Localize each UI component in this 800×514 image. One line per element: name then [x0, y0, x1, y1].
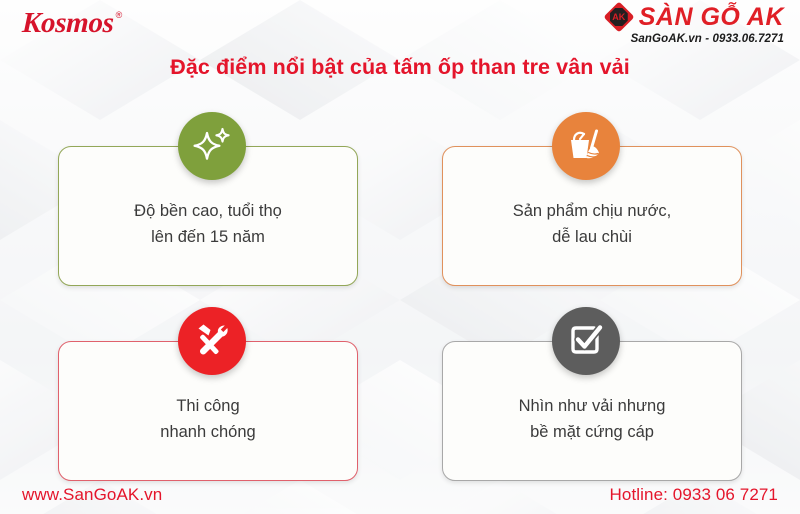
footer-website[interactable]: www.SanGoAK.vn: [22, 485, 162, 505]
ak-octagon-shape: AK: [610, 8, 628, 26]
sangoak-subtitle: SanGoAK.vn - 0933.06.7271: [574, 33, 784, 45]
kosmos-logo[interactable]: Kosmos ®: [22, 9, 122, 38]
feature-card-text: Độ bền cao, tuổi thọ lên đến 15 năm: [59, 199, 357, 250]
page-title: Đặc điểm nổi bật của tấm ốp than tre vân…: [0, 55, 800, 80]
feature-line-2: nhanh chóng: [59, 420, 357, 446]
hammer-wrench-icon: [191, 320, 233, 362]
feature-line-1: Sản phẩm chịu nước,: [513, 202, 672, 220]
ak-shield-icon: AK: [606, 4, 632, 30]
sparkle-icon: [190, 124, 234, 168]
feature-line-1: Độ bền cao, tuổi thọ: [134, 202, 282, 220]
sangoak-title: SÀN GỖ AK: [639, 5, 784, 30]
checkbox-check-icon-badge: [552, 307, 620, 375]
bucket-mop-icon-badge: [552, 112, 620, 180]
footer-hotline[interactable]: Hotline: 0933 06 7271: [610, 485, 778, 505]
feature-card-text: Thi công nhanh chóng: [59, 394, 357, 445]
infographic-root: Kosmos ® AK SÀN GỖ AK SanGoAK.vn - 0933.…: [0, 0, 800, 514]
kosmos-wordmark: Kosmos: [21, 9, 114, 38]
hammer-wrench-icon-badge: [178, 307, 246, 375]
bucket-mop-icon: [565, 125, 607, 167]
checkbox-check-icon: [565, 320, 607, 362]
feature-line-2: lên đến 15 năm: [59, 225, 357, 251]
header-bar: Kosmos ® AK SÀN GỖ AK SanGoAK.vn - 0933.…: [0, 0, 800, 48]
footer-bar: www.SanGoAK.vn Hotline: 0933 06 7271: [0, 478, 800, 514]
feature-line-1: Thi công: [176, 397, 239, 415]
registered-trademark-icon: ®: [116, 10, 123, 20]
feature-line-2: bề mặt cứng cáp: [443, 420, 741, 446]
sangoak-logo-row: AK SÀN GỖ AK: [574, 4, 784, 30]
feature-line-1: Nhìn như vải nhưng: [519, 397, 666, 415]
feature-card-text: Nhìn như vải nhưng bề mặt cứng cáp: [443, 394, 741, 445]
sangoak-logo[interactable]: AK SÀN GỖ AK SanGoAK.vn - 0933.06.7271: [574, 4, 784, 48]
feature-line-2: dễ lau chùi: [443, 225, 741, 251]
ak-badge-label: AK: [612, 13, 625, 22]
sparkle-icon-badge: [178, 112, 246, 180]
feature-card-text: Sản phẩm chịu nước, dễ lau chùi: [443, 199, 741, 250]
